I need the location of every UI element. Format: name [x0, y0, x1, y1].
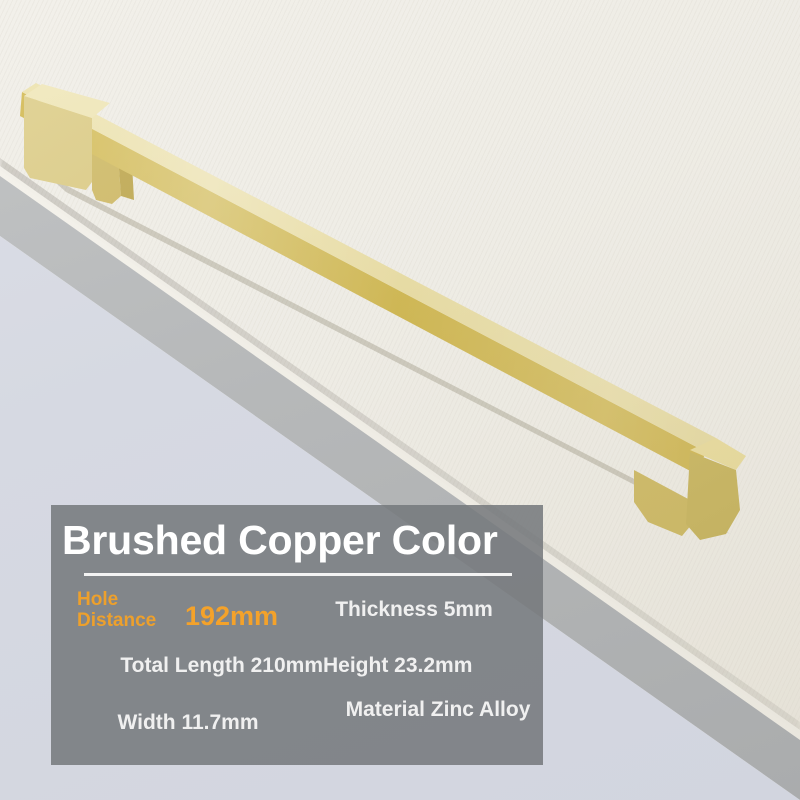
spec-total-length: Total Length 210mm: [63, 653, 323, 678]
spec-overlay-panel: Brushed Copper Color Hole Distance 192mm…: [51, 505, 543, 765]
spec-material: Material Zinc Alloy: [333, 697, 543, 722]
spec-hole-distance-value: 192mm: [185, 601, 278, 631]
spec-hole-distance: Hole Distance 192mm: [73, 589, 283, 635]
product-image: Brushed Copper Color Hole Distance 192mm…: [0, 0, 800, 800]
spec-hole-distance-label: Hole Distance: [77, 589, 187, 631]
overlay-title: Brushed Copper Color: [62, 517, 542, 563]
title-divider: [84, 573, 512, 576]
spec-thickness: Thickness 5mm: [299, 597, 529, 622]
spec-width: Width 11.7mm: [63, 710, 313, 735]
spec-height: Height 23.2mm: [323, 653, 543, 678]
